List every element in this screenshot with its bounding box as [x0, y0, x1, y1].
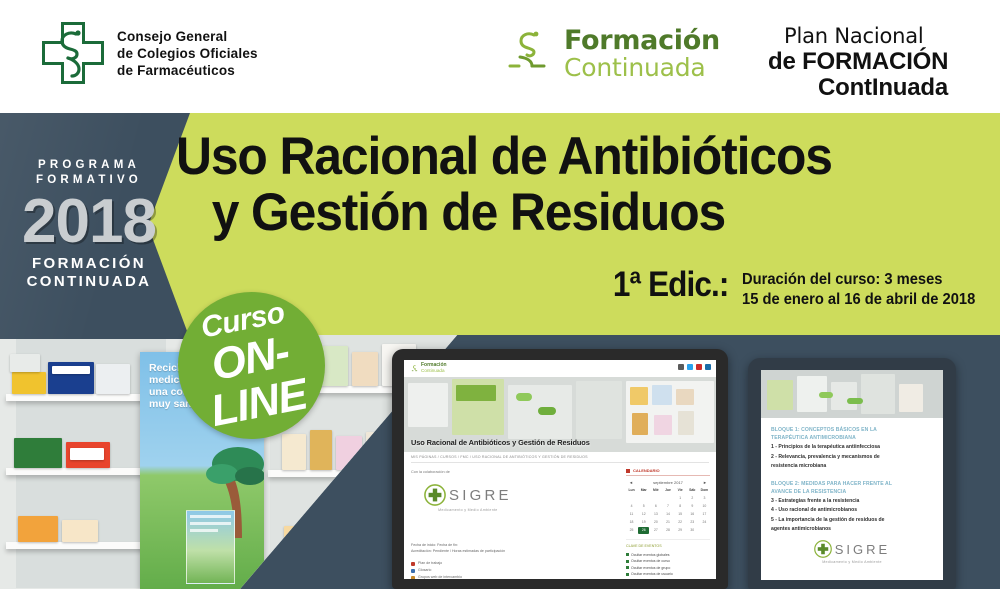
- calendar-icon: [626, 469, 630, 473]
- calendar-panel-title: CALENDARIO: [626, 468, 710, 476]
- social-icons[interactable]: [678, 364, 711, 370]
- list-item: Plan de trabajo: [411, 560, 462, 567]
- calendar-day[interactable]: 17: [699, 511, 710, 518]
- calendar-grid[interactable]: LunMarMiéJueVieSábDom1234567891011121314…: [626, 487, 710, 534]
- pdf-icon: [411, 562, 415, 566]
- calendar-day[interactable]: 29: [675, 527, 686, 534]
- site-logo-word-2: Continuada: [421, 368, 447, 373]
- laptop-device: Formación Continuada: [392, 349, 728, 589]
- badge-continuada: CONTINUADA: [14, 273, 164, 291]
- calendar-day-empty: [638, 495, 649, 502]
- block2-title-line1: BLOQUE 2: MEDIDAS PARA HACER FRENTE AL: [771, 480, 933, 488]
- block1-title-line2: TERAPÉUTICA ANTIMICROBIANA: [771, 434, 933, 442]
- calendar-day[interactable]: 16: [687, 511, 698, 518]
- tablet-device: BLOQUE 1: CONCEPTOS BÁSICOS EN LA TERAPÉ…: [748, 358, 956, 589]
- user-icon: [626, 573, 629, 576]
- cgcof-line-2: de Colegios Oficiales: [117, 45, 258, 62]
- site-header: Formación Continuada: [404, 360, 716, 377]
- duration-line-1: Duración del curso: 3 meses: [742, 270, 975, 290]
- resource-label-0[interactable]: Plan de trabajo: [418, 560, 442, 567]
- twitter-icon[interactable]: [687, 364, 693, 370]
- forum-icon: [411, 576, 415, 580]
- formacion-continuada-mark-icon: [500, 25, 556, 81]
- list-item: Ocultar eventos de usuario: [626, 571, 710, 578]
- title-line-2: y Gestión de Residuos: [176, 185, 939, 241]
- calendar-day[interactable]: 8: [675, 503, 686, 510]
- duration-block: Duración del curso: 3 meses 15 de enero …: [742, 266, 975, 310]
- calendar-dayname: Dom: [699, 487, 710, 494]
- cal-link-3[interactable]: Ocultar eventos de usuario: [631, 571, 673, 578]
- youtube-icon[interactable]: [696, 364, 702, 370]
- resource-label-1[interactable]: Glosario: [418, 567, 431, 574]
- cgcof-line-1: Consejo General: [117, 28, 258, 45]
- tablet-hero-image: [761, 370, 943, 418]
- header-bar: Consejo General de Colegios Oficiales de…: [0, 0, 1000, 113]
- calendar-day[interactable]: 21: [662, 519, 673, 526]
- block1-item-2: resistencia microbiana: [771, 462, 933, 471]
- poster-inset: [186, 510, 235, 584]
- calendar-dayname: Sáb: [687, 487, 698, 494]
- pharmacy-cross-icon: [42, 22, 104, 84]
- badge-programa: PROGRAMA: [14, 158, 164, 173]
- sigre-sub: Medicamento y Medio Ambiente: [438, 508, 498, 512]
- calendar-day-empty: [650, 495, 661, 502]
- calendar-day[interactable]: 5: [638, 503, 649, 510]
- calendar-day-empty: [626, 495, 637, 502]
- globe-icon: [626, 553, 629, 556]
- collab-label: Con la colaboración de: [411, 470, 450, 474]
- pn-line-1: Plan Nacional: [768, 26, 948, 47]
- calendar-day[interactable]: 11: [626, 511, 637, 518]
- block2-item-0: 3 - Estrategias frente a la resistencia: [771, 497, 933, 506]
- program-year-badge: PROGRAMA FORMATIVO 2018 FORMACIÓN CONTIN…: [14, 158, 164, 291]
- title-line-1: Uso Racional de Antibióticos: [176, 129, 939, 185]
- calendar-dayname: Mar: [638, 487, 649, 494]
- tablet-sigre-sub: Medicamento y Medio Ambiente: [822, 560, 882, 564]
- block2-item-2: 5 - La importancia de la gestión de resi…: [771, 516, 933, 525]
- duration-line-2: 15 de enero al 16 de abril de 2018: [742, 290, 975, 310]
- block1-title-line1: BLOQUE 1: CONCEPTOS BÁSICOS EN LA: [771, 426, 933, 434]
- calendar-day[interactable]: 26: [638, 527, 649, 534]
- fc-word-formacion: Formación: [564, 27, 720, 54]
- calendar-day[interactable]: 10: [699, 503, 710, 510]
- course-dates-line-2: Acreditación: Pendiente / Horas estimada…: [411, 548, 505, 554]
- calendar-day[interactable]: 25: [626, 527, 637, 534]
- calendar-prev-button[interactable]: ◄: [629, 480, 633, 485]
- calendar-day[interactable]: 1: [675, 495, 686, 502]
- calendar-dayname: Lun: [626, 487, 637, 494]
- calendar-day[interactable]: 27: [650, 527, 661, 534]
- sigre-cross-icon: [424, 484, 446, 506]
- site-logo-mark-icon: [410, 364, 419, 373]
- book-icon: [411, 569, 415, 573]
- block1-item-1: 2 - Relevancia, prevalencia y mecanismos…: [771, 453, 933, 462]
- edition-label: 1ª Edic.:: [613, 266, 729, 304]
- linkedin-icon[interactable]: [705, 364, 711, 370]
- course-dates: Fecha de inicio: Fecha de fin: Acreditac…: [411, 542, 505, 554]
- calendar-day-empty: [699, 527, 710, 534]
- course-hero-image: Uso Racional de Antibióticos y Gestión d…: [404, 377, 716, 452]
- calendar-day[interactable]: 2: [687, 495, 698, 502]
- block2-item-3: agentes antimicrobianos: [771, 525, 933, 534]
- calendar-day[interactable]: 23: [687, 519, 698, 526]
- calendar-day[interactable]: 18: [626, 519, 637, 526]
- calendar-dayname: Vie: [675, 487, 686, 494]
- lock-icon[interactable]: [678, 364, 684, 370]
- site-logo[interactable]: Formación Continuada: [410, 363, 447, 373]
- calendar-day[interactable]: 3: [699, 495, 710, 502]
- calendar-links-title: CLAVE DE EVENTOS: [626, 543, 710, 550]
- calendar-block: CALENDARIO ◄ septiembre 2017 ► LunMarMié…: [626, 468, 710, 578]
- course-hero-title: Uso Racional de Antibióticos y Gestión d…: [411, 438, 590, 447]
- logo-formacion-continuada: Formación Continuada: [500, 25, 720, 81]
- sigre-cross-icon: [814, 540, 832, 558]
- badge-formativo: FORMATIVO: [14, 173, 164, 188]
- block1-item-0: 1 - Principios de la terapéutica antiinf…: [771, 443, 933, 452]
- pn-line-3: ContInuada: [768, 76, 948, 100]
- tablet-content: BLOQUE 1: CONCEPTOS BÁSICOS EN LA TERAPÉ…: [771, 426, 933, 534]
- calendar-dayname: Jue: [662, 487, 673, 494]
- calendar-day[interactable]: 15: [675, 511, 686, 518]
- calendar-day[interactable]: 28: [662, 527, 673, 534]
- badge-year: 2018: [14, 191, 164, 253]
- calendar-nav[interactable]: ◄ septiembre 2017 ►: [626, 480, 710, 485]
- list-item: Glosario: [411, 567, 462, 574]
- calendar-day[interactable]: 24: [699, 519, 710, 526]
- calendar-day[interactable]: 12: [638, 511, 649, 518]
- fc-word-continuada: Continuada: [564, 55, 720, 80]
- block2-title-line2: AVANCE DE LA RESISTENCIA: [771, 488, 933, 496]
- calendar-day-empty: [662, 495, 673, 502]
- logo-plan-nacional: Plan Nacional de FORMACIÓN ContInuada: [768, 26, 948, 100]
- calendar-day[interactable]: 20: [650, 519, 661, 526]
- breadcrumb[interactable]: MIS PÁGINAS / CURSOS / FMC / USO RACIONA…: [411, 455, 588, 459]
- calendar-dayname: Mié: [650, 487, 661, 494]
- list-item: Grupos web de intercambio: [411, 574, 462, 579]
- calendar-day[interactable]: 6: [650, 503, 661, 510]
- resource-label-2[interactable]: Grupos web de intercambio: [418, 574, 462, 579]
- calendar-day[interactable]: 9: [687, 503, 698, 510]
- calendar-month-label: septiembre 2017: [653, 480, 683, 485]
- calendar-next-button[interactable]: ►: [703, 480, 707, 485]
- calendar-day[interactable]: 7: [662, 503, 673, 510]
- online-course-badge: Curso ON- LINE: [178, 292, 325, 439]
- tablet-screen: BLOQUE 1: CONCEPTOS BÁSICOS EN LA TERAPÉ…: [761, 370, 943, 580]
- calendar-day[interactable]: 19: [638, 519, 649, 526]
- calendar-day[interactable]: 13: [650, 511, 661, 518]
- calendar-day[interactable]: 30: [687, 527, 698, 534]
- calendar-day[interactable]: 14: [662, 511, 673, 518]
- laptop-screen: Formación Continuada: [404, 360, 716, 579]
- badge-formacion: FORMACIÓN: [14, 255, 164, 273]
- tablet-sigre-word: SIGRE: [835, 542, 890, 557]
- cgcof-line-3: de Farmacéuticos: [117, 62, 258, 79]
- course-resource-list: Plan de trabajo Glosario Grupos web de i…: [411, 560, 462, 579]
- sigre-logo: SIGRE Medicamento y Medio Ambiente: [424, 484, 512, 512]
- block2-item-1: 4 - Uso racional de antimicrobianos: [771, 506, 933, 515]
- logo-consejo-general: Consejo General de Colegios Oficiales de…: [42, 22, 258, 84]
- calendar-event-key: CLAVE DE EVENTOS Ocultar eventos globale…: [626, 539, 710, 578]
- pn-line-2: de FORMACIÓN: [768, 50, 948, 74]
- tablet-sigre-logo: SIGRE Medicamento y Medio Ambiente: [761, 540, 943, 564]
- calendar-day[interactable]: 4: [626, 503, 637, 510]
- sigre-word: SIGRE: [449, 487, 512, 504]
- page-title: Uso Racional de Antibióticos y Gestión d…: [176, 129, 939, 241]
- course-promo-poster: Consejo General de Colegios Oficiales de…: [0, 0, 1000, 589]
- calendar-day[interactable]: 22: [675, 519, 686, 526]
- course-icon: [626, 560, 629, 563]
- group-icon: [626, 566, 629, 569]
